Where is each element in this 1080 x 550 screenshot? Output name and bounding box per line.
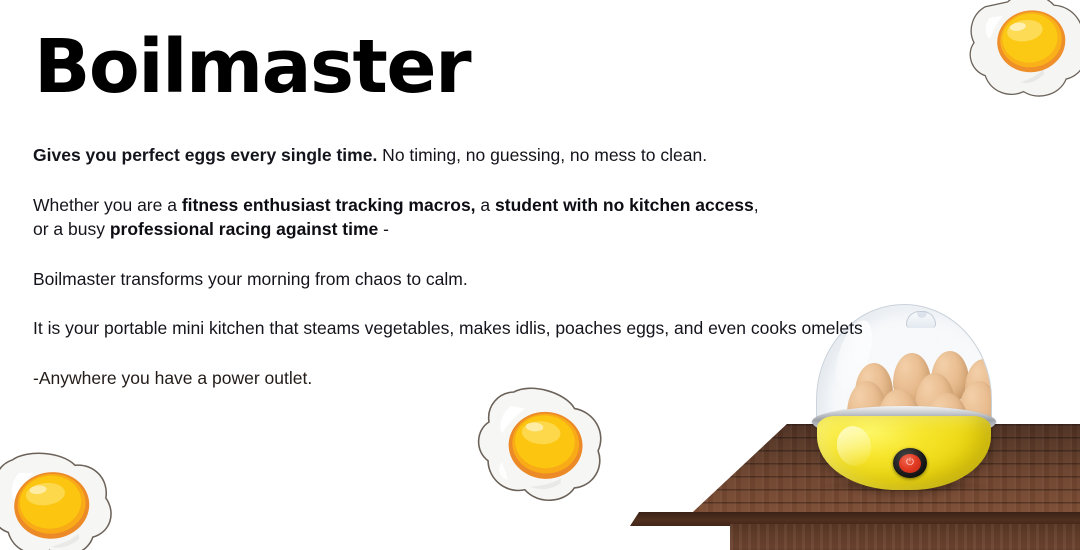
power-icon: ⏻ (899, 454, 921, 473)
marketing-copy: Gives you perfect eggs every single time… (33, 143, 863, 390)
copy-p2-bold-1: fitness enthusiast tracking macros, (182, 195, 476, 215)
copy-p2-bold-2: student with no kitchen access (495, 195, 754, 215)
table-apron (730, 524, 1080, 550)
fried-egg-top-right-icon (954, 0, 1080, 118)
fried-egg-bottom-left-icon (0, 437, 128, 550)
page-title: Boilmaster (34, 30, 470, 104)
copy-paragraph-2: Whether you are a fitness enthusiast tra… (33, 193, 863, 242)
copy-p2-a: Whether you are a (33, 195, 182, 215)
copy-paragraph-5: -Anywhere you have a power outlet. (33, 366, 863, 391)
fried-egg-center-icon (464, 375, 621, 517)
base-highlight (833, 423, 875, 469)
dome-knob-handle (906, 311, 936, 328)
copy-p2-f: - (378, 219, 389, 239)
copy-p2-bold-3: professional racing against time (110, 219, 378, 239)
cooker-base: ⏻ (817, 416, 991, 490)
copy-p2-e: or a busy (33, 219, 110, 239)
copy-p1-bold: Gives you perfect eggs every single time… (33, 145, 377, 165)
copy-p2-d: , (754, 195, 759, 215)
copy-p2-c: a (476, 195, 495, 215)
copy-paragraph-3: Boilmaster transforms your morning from … (33, 267, 863, 292)
promo-banner: Boilmaster Gives you perfect eggs every … (0, 0, 1080, 550)
power-button[interactable]: ⏻ (893, 448, 927, 478)
copy-p1-rest: No timing, no guessing, no mess to clean… (377, 145, 707, 165)
copy-paragraph-4: It is your portable mini kitchen that st… (33, 316, 863, 341)
copy-paragraph-1: Gives you perfect eggs every single time… (33, 143, 863, 168)
